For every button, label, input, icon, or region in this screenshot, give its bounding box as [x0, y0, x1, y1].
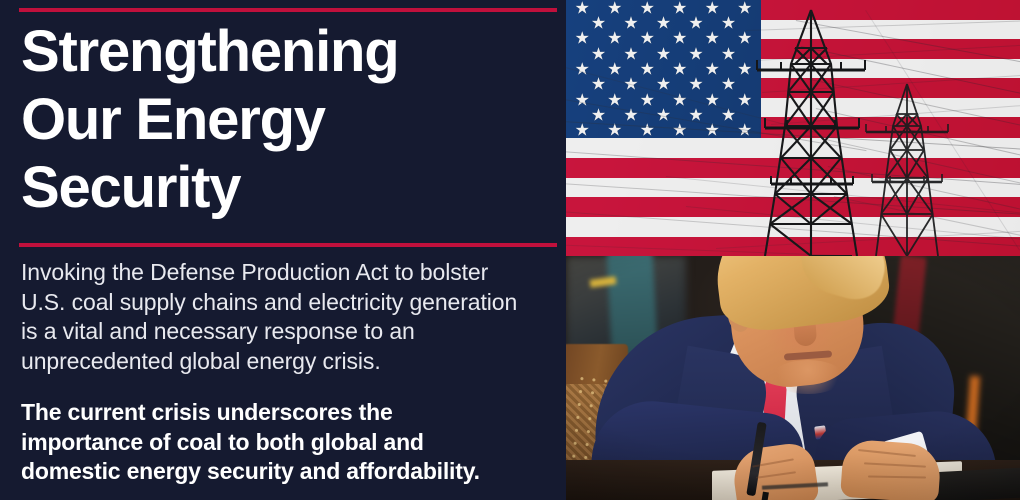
flag-star: ★	[672, 61, 687, 78]
flag-star: ★	[672, 91, 687, 108]
flag-star: ★	[607, 91, 622, 108]
flag-star: ★	[575, 122, 590, 138]
flag-star: ★	[575, 61, 590, 78]
middle-divider-rule	[19, 243, 557, 247]
flag-star: ★	[705, 30, 720, 47]
top-divider-rule	[19, 8, 557, 12]
flag-star: ★	[656, 45, 671, 62]
flag-star: ★	[721, 76, 736, 93]
flag-star: ★	[705, 0, 720, 16]
flag-star: ★	[672, 30, 687, 47]
flag-star: ★	[640, 122, 655, 138]
flag-star: ★	[623, 15, 638, 32]
flag-star: ★	[575, 30, 590, 47]
flag-star: ★	[721, 45, 736, 62]
flag-star: ★	[591, 15, 606, 32]
text-panel: Strengthening Our Energy Security Invoki…	[0, 0, 566, 500]
document-folder	[934, 468, 1020, 500]
flag-star: ★	[688, 76, 703, 93]
flag-star: ★	[575, 0, 590, 16]
flag-star: ★	[640, 30, 655, 47]
flag-star: ★	[591, 107, 606, 124]
flag-star: ★	[688, 15, 703, 32]
pen-tip	[761, 492, 769, 500]
flag-star: ★	[575, 91, 590, 108]
flag-star: ★	[640, 61, 655, 78]
transmission-tower-secondary	[864, 82, 950, 256]
body-paragraph-emphasis: The current crisis underscores the impor…	[21, 398, 551, 487]
body-paragraph-primary: Invoking the Defense Production Act to b…	[21, 258, 551, 376]
signing-photo	[566, 256, 1020, 500]
flag-star: ★	[640, 91, 655, 108]
imagery-column: ★★★★★★★★★★★★★★★★★★★★★★★★★★★★★★★★★★★★★★★★…	[566, 0, 1020, 500]
page-title: Strengthening Our Energy Security	[21, 18, 551, 222]
flag-star: ★	[607, 30, 622, 47]
flag-power-lines-image: ★★★★★★★★★★★★★★★★★★★★★★★★★★★★★★★★★★★★★★★★…	[566, 0, 1020, 256]
flag-star: ★	[607, 0, 622, 16]
flag-star: ★	[721, 15, 736, 32]
body-copy: Invoking the Defense Production Act to b…	[21, 258, 551, 487]
flag-star: ★	[688, 45, 703, 62]
flag-canton: ★★★★★★★★★★★★★★★★★★★★★★★★★★★★★★★★★★★★★★★★…	[566, 0, 761, 138]
transmission-tower-main	[751, 8, 871, 256]
flag-star: ★	[591, 76, 606, 93]
flag-star: ★	[672, 0, 687, 16]
flag-star: ★	[591, 45, 606, 62]
flag-star: ★	[640, 0, 655, 16]
flag-star: ★	[607, 61, 622, 78]
flag-star: ★	[656, 15, 671, 32]
flag-star: ★	[672, 122, 687, 138]
flag-star: ★	[705, 61, 720, 78]
energy-security-graphic: Strengthening Our Energy Security Invoki…	[0, 0, 1020, 500]
subject-chin	[772, 360, 844, 394]
flag-star: ★	[623, 45, 638, 62]
